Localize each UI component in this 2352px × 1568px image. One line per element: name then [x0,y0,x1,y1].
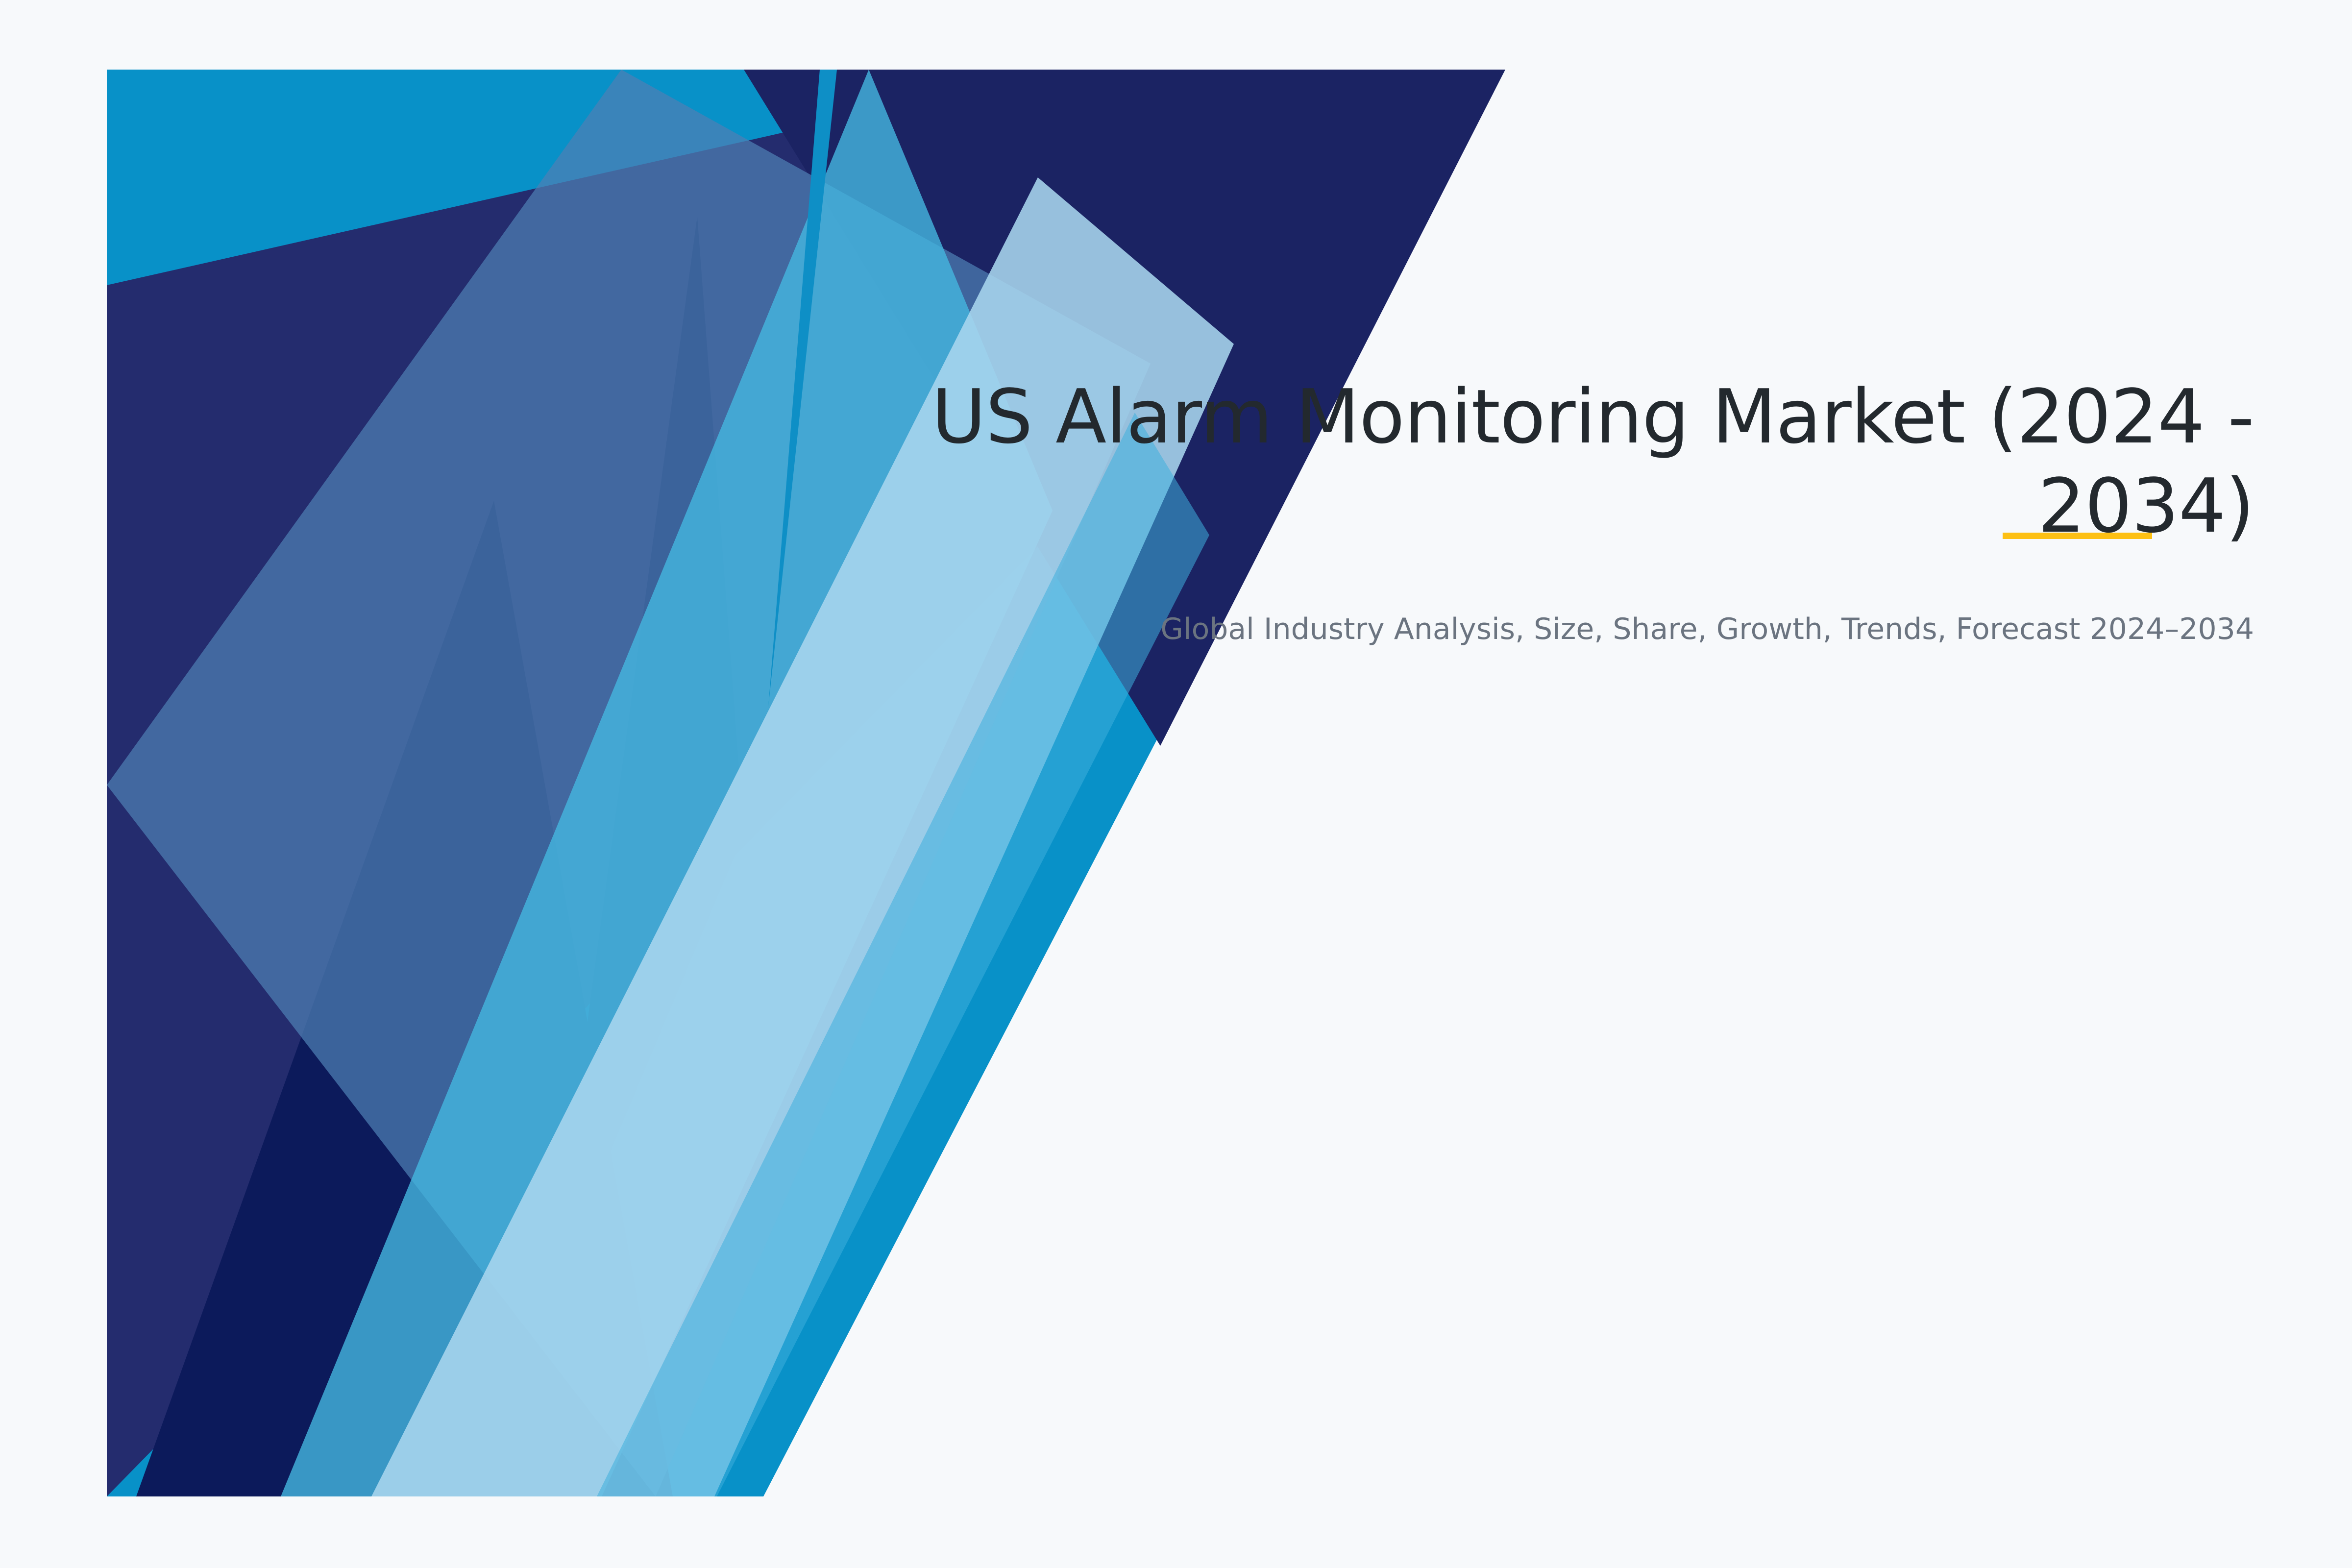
slide-canvas: US Alarm Monitoring Market (2024 - 2034)… [0,0,2352,1568]
title-wrapper: US Alarm Monitoring Market (2024 - 2034) [833,372,2254,551]
page-title: US Alarm Monitoring Market (2024 - 2034) [833,372,2254,551]
slide-text-block: US Alarm Monitoring Market (2024 - 2034)… [833,372,2254,649]
abstract-polygon-graphic [107,70,1508,1496]
page-subtitle: Global Industry Analysis, Size, Share, G… [833,551,2254,649]
